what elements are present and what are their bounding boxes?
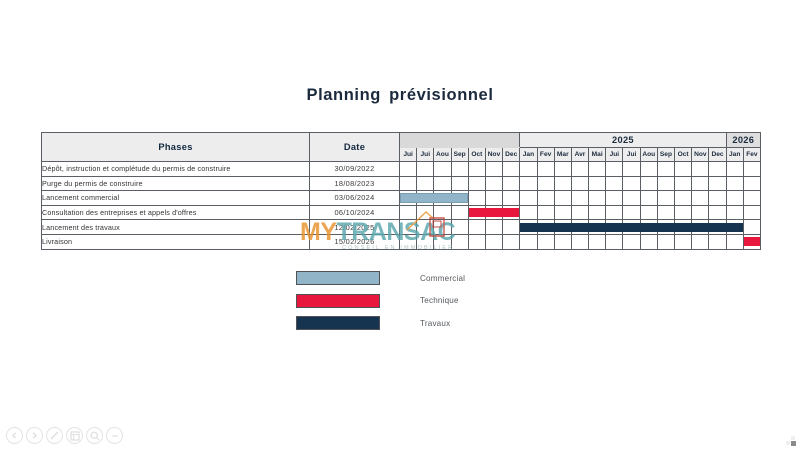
gantt-cell: [520, 162, 537, 177]
bar-segment: [451, 193, 468, 202]
gantt-cell: [606, 162, 623, 177]
gantt-cell: [434, 234, 451, 249]
gantt-cell: [434, 176, 451, 191]
bar-segment: [588, 223, 606, 232]
month-header-14: Aou: [640, 148, 657, 162]
pen-slash-icon[interactable]: [46, 427, 63, 444]
gantt-cell: [485, 176, 502, 191]
month-header-17: Nov: [692, 148, 709, 162]
zoom-out-icon[interactable]: [106, 427, 123, 444]
gantt-cell: [657, 176, 674, 191]
gantt-cell: [606, 205, 623, 220]
gantt-bar-commercial: [400, 191, 417, 206]
gantt-cell: [743, 162, 760, 177]
gantt-cell: [675, 234, 692, 249]
bar-segment: [537, 223, 555, 232]
gantt-cell: [692, 176, 709, 191]
document-page: Planning prévisionnel Phases Date 2025 2…: [0, 0, 800, 450]
gantt-cell: [485, 162, 502, 177]
bar-segment: [605, 223, 623, 232]
next-icon[interactable]: [26, 427, 43, 444]
gantt-cell: [692, 205, 709, 220]
gantt-bar-travaux: [640, 220, 657, 235]
gantt-cell: [503, 176, 520, 191]
phase-label: Lancement commercial: [42, 191, 310, 206]
bar-segment: [744, 237, 760, 246]
gantt-cell: [657, 205, 674, 220]
gantt-cell: [503, 220, 520, 235]
gantt-cell: [468, 176, 485, 191]
gantt-cell: [623, 191, 640, 206]
gantt-bar-technique: [485, 205, 502, 220]
gantt-cell: [503, 234, 520, 249]
gantt-cell: [400, 234, 417, 249]
gantt-bar-travaux: [657, 220, 674, 235]
gantt-chart: Phases Date 2025 2026 JuiJuiAouSepOctNov…: [41, 132, 760, 250]
gantt-cell: [640, 234, 657, 249]
gantt-bar-travaux: [554, 220, 571, 235]
gantt-cell: [657, 162, 674, 177]
gantt-cell: [692, 234, 709, 249]
gantt-cell: [709, 234, 726, 249]
gantt-cell: [640, 191, 657, 206]
phase-label: Dépôt, instruction et complétude du perm…: [42, 162, 310, 177]
gantt-cell: [571, 234, 588, 249]
phase-label: Lancement des travaux: [42, 220, 310, 235]
gantt-bar-travaux: [571, 220, 588, 235]
layout-icon[interactable]: [66, 427, 83, 444]
month-header-20: Fev: [743, 148, 760, 162]
gantt-cell: [589, 176, 606, 191]
gantt-cell: [623, 162, 640, 177]
legend-label-technique: Technique: [420, 296, 459, 305]
previous-icon[interactable]: [6, 427, 23, 444]
bar-segment: [708, 223, 726, 232]
gantt-cell: [726, 205, 743, 220]
gantt-cell: [400, 220, 417, 235]
column-header-phases: Phases: [42, 133, 310, 162]
gantt-cell: [726, 191, 743, 206]
gantt-cell: [468, 162, 485, 177]
gantt-cell: [589, 162, 606, 177]
gantt-cell: [589, 205, 606, 220]
gantt-cell: [417, 234, 434, 249]
gantt-table-body: Dépôt, instruction et complétude du perm…: [42, 162, 761, 250]
gantt-cell: [485, 191, 502, 206]
gantt-bar-travaux: [675, 220, 692, 235]
gantt-cell: [675, 191, 692, 206]
gantt-bar-travaux: [606, 220, 623, 235]
gantt-cell: [434, 205, 451, 220]
legend-label-travaux: Travaux: [420, 319, 450, 328]
gantt-cell: [726, 234, 743, 249]
gantt-cell: [709, 162, 726, 177]
gantt-cell: [606, 176, 623, 191]
gantt-cell: [417, 205, 434, 220]
gantt-table-header: Phases Date 2025 2026 JuiJuiAouSepOctNov…: [42, 133, 761, 162]
gantt-cell: [451, 234, 468, 249]
bar-segment: [416, 193, 434, 202]
gantt-cell: [468, 191, 485, 206]
month-header-15: Sep: [657, 148, 674, 162]
gantt-cell: [520, 191, 537, 206]
gantt-cell: [743, 176, 760, 191]
gantt-cell: [657, 191, 674, 206]
gantt-cell: [520, 176, 537, 191]
gantt-cell: [520, 205, 537, 220]
gantt-cell: [709, 176, 726, 191]
phase-date: 06/10/2024: [310, 205, 400, 220]
gantt-cell: [537, 162, 554, 177]
gantt-cell: [623, 176, 640, 191]
month-header-5: Nov: [485, 148, 502, 162]
gantt-cell: [675, 205, 692, 220]
gantt-cell: [743, 205, 760, 220]
table-row: Lancement commercial03/06/2024: [42, 191, 761, 206]
month-header-6: Dec: [503, 148, 520, 162]
gantt-cell: [503, 162, 520, 177]
month-header-16: Oct: [675, 148, 692, 162]
legend-swatch-commercial: [296, 271, 380, 285]
gantt-cell: [675, 162, 692, 177]
gantt-cell: [692, 162, 709, 177]
gantt-cell: [589, 234, 606, 249]
bar-segment: [674, 223, 692, 232]
bar-segment: [502, 208, 519, 217]
gantt-cell: [571, 162, 588, 177]
header-row-years: Phases Date 2025 2026: [42, 133, 761, 148]
gantt-cell: [451, 220, 468, 235]
phase-date: 12/02/2025: [310, 220, 400, 235]
gantt-cell: [554, 234, 571, 249]
phase-date: 30/09/2022: [310, 162, 400, 177]
gantt-cell: [485, 220, 502, 235]
gantt-cell: [554, 191, 571, 206]
legend-swatch-travaux: [296, 316, 380, 330]
month-header-0: Jui: [400, 148, 417, 162]
month-header-8: Fev: [537, 148, 554, 162]
month-header-12: Jui: [606, 148, 623, 162]
gantt-cell: [554, 176, 571, 191]
gantt-cell: [606, 234, 623, 249]
gantt-table: Phases Date 2025 2026 JuiJuiAouSepOctNov…: [41, 132, 761, 250]
gantt-cell: [709, 191, 726, 206]
gantt-cell: [554, 162, 571, 177]
gantt-cell: [606, 191, 623, 206]
year-header-blank: [400, 133, 520, 148]
month-header-11: Mai: [589, 148, 606, 162]
column-header-date: Date: [310, 133, 400, 162]
gantt-cell: [692, 191, 709, 206]
gantt-cell: [520, 234, 537, 249]
bar-segment: [433, 193, 451, 202]
gantt-cell: [640, 176, 657, 191]
bar-segment: [657, 223, 675, 232]
gantt-cell: [400, 205, 417, 220]
month-header-7: Jan: [520, 148, 537, 162]
gantt-cell: [485, 234, 502, 249]
bar-segment: [554, 223, 572, 232]
gantt-cell: [468, 234, 485, 249]
page-title: Planning prévisionnel: [0, 86, 800, 105]
bar-segment: [640, 223, 658, 232]
gantt-bar-technique: [468, 205, 485, 220]
gantt-cell: [417, 220, 434, 235]
year-header-2025: 2025: [520, 133, 726, 148]
bar-segment: [469, 208, 486, 217]
gantt-cell: [400, 162, 417, 177]
gantt-cell: [400, 176, 417, 191]
gantt-cell: [743, 191, 760, 206]
month-header-10: Avr: [571, 148, 588, 162]
month-header-2: Aou: [434, 148, 451, 162]
gantt-cell: [537, 234, 554, 249]
gantt-cell: [554, 205, 571, 220]
table-row: Lancement des travaux12/02/2025: [42, 220, 761, 235]
gantt-cell: [675, 176, 692, 191]
table-row: Consultation des entreprises et appels d…: [42, 205, 761, 220]
gantt-cell: [589, 191, 606, 206]
gantt-bar-travaux: [692, 220, 709, 235]
gantt-cell: [503, 191, 520, 206]
gantt-cell: [537, 191, 554, 206]
gantt-cell: [537, 205, 554, 220]
gantt-cell: [571, 191, 588, 206]
legend-swatch-technique: [296, 294, 380, 308]
gantt-cell: [709, 205, 726, 220]
phase-label: Livraison: [42, 234, 310, 249]
gantt-bar-travaux: [589, 220, 606, 235]
gantt-cell: [726, 162, 743, 177]
table-row: Purge du permis de construire18/08/2023: [42, 176, 761, 191]
legend-item: Technique: [296, 291, 546, 312]
gantt-cell: [417, 162, 434, 177]
month-header-9: Mar: [554, 148, 571, 162]
bar-segment: [520, 223, 537, 232]
gantt-bar-travaux: [709, 220, 726, 235]
gantt-cell: [623, 234, 640, 249]
gantt-bar-travaux: [726, 220, 743, 235]
gantt-bar-commercial: [417, 191, 434, 206]
month-header-4: Oct: [468, 148, 485, 162]
gantt-cell: [451, 162, 468, 177]
phase-label: Consultation des entreprises et appels d…: [42, 205, 310, 220]
gantt-bar-commercial: [451, 191, 468, 206]
gantt-cell: [640, 162, 657, 177]
month-header-1: Jui: [417, 148, 434, 162]
legend-item: Commercial: [296, 268, 546, 289]
gantt-cell: [417, 176, 434, 191]
bar-segment: [622, 223, 640, 232]
legend-item: Travaux: [296, 313, 546, 334]
resize-handle[interactable]: [784, 434, 797, 447]
zoom-in-icon[interactable]: [86, 427, 103, 444]
gantt-cell: [743, 220, 760, 235]
gantt-cell: [468, 220, 485, 235]
month-header-13: Jui: [623, 148, 640, 162]
month-header-18: Dec: [709, 148, 726, 162]
gantt-bar-travaux: [537, 220, 554, 235]
viewer-toolbar[interactable]: [6, 427, 123, 444]
year-header-2026: 2026: [726, 133, 760, 148]
bar-segment: [691, 223, 709, 232]
gantt-bar-travaux: [623, 220, 640, 235]
gantt-cell: [451, 176, 468, 191]
gantt-cell: [451, 205, 468, 220]
gantt-bar-commercial: [434, 191, 451, 206]
bar-segment: [400, 193, 417, 202]
bar-segment: [485, 208, 503, 217]
gantt-cell: [623, 205, 640, 220]
gantt-cell: [571, 176, 588, 191]
phase-date: 15/02/2026: [310, 234, 400, 249]
table-row: Dépôt, instruction et complétude du perm…: [42, 162, 761, 177]
legend: Commercial Technique Travaux: [296, 268, 546, 336]
gantt-bar-technique: [743, 234, 760, 249]
phase-label: Purge du permis de construire: [42, 176, 310, 191]
gantt-cell: [434, 162, 451, 177]
gantt-cell: [537, 176, 554, 191]
bar-segment: [726, 223, 743, 232]
gantt-cell: [434, 220, 451, 235]
gantt-cell: [726, 176, 743, 191]
gantt-bar-travaux: [520, 220, 537, 235]
legend-label-commercial: Commercial: [420, 274, 465, 283]
gantt-cell: [571, 205, 588, 220]
gantt-bar-technique: [503, 205, 520, 220]
month-header-19: Jan: [726, 148, 743, 162]
table-row: Livraison15/02/2026: [42, 234, 761, 249]
month-header-3: Sep: [451, 148, 468, 162]
gantt-cell: [657, 234, 674, 249]
bar-segment: [571, 223, 589, 232]
phase-date: 03/06/2024: [310, 191, 400, 206]
gantt-cell: [640, 205, 657, 220]
phase-date: 18/08/2023: [310, 176, 400, 191]
